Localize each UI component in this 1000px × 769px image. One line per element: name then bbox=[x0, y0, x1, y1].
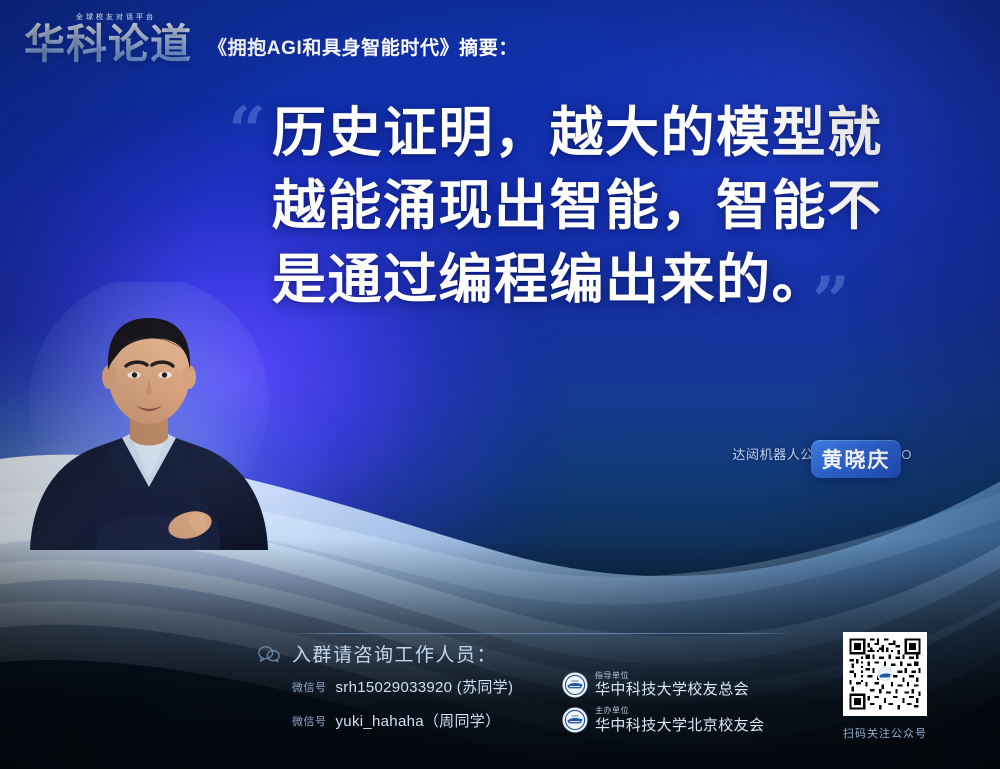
quote-close-mark: ” bbox=[812, 268, 850, 334]
organizer-kind: 指导单位 bbox=[595, 672, 749, 680]
organizer-text: 指导单位 华中科技大学校友总会 bbox=[595, 672, 749, 698]
speaker-name: 黄晓庆 bbox=[822, 444, 891, 474]
qr-caption: 扫码关注公众号 bbox=[843, 725, 927, 741]
contact-label: 微信号 bbox=[292, 713, 327, 729]
footer-heading-row: 入群请咨询工作人员： bbox=[258, 640, 818, 667]
organizer-name: 华中科技大学校友总会 bbox=[595, 682, 749, 698]
quote-line: 历史证明，越大的模型就 bbox=[272, 96, 952, 169]
quote-line: 越能涌现出智能，智能不 bbox=[272, 169, 952, 242]
quote-block: 历史证明，越大的模型就 越能涌现出智能，智能不 是通过编程编出来的。 bbox=[272, 96, 952, 316]
footer-heading: 入群请咨询工作人员： bbox=[292, 640, 497, 667]
speaker-portrait bbox=[22, 282, 276, 550]
poster-header: 全球校友对话平台 华科论道 《拥抱AGI和具身智能时代》摘要： bbox=[24, 14, 518, 66]
contact-label: 微信号 bbox=[292, 679, 327, 695]
organizer-name: 华中科技大学北京校友会 bbox=[595, 718, 764, 734]
organizer-kind: 主办单位 bbox=[595, 707, 764, 715]
poster-canvas: 全球校友对话平台 华科论道 《拥抱AGI和具身智能时代》摘要： “ 历史证明，越… bbox=[0, 0, 1000, 769]
university-seal-icon bbox=[562, 707, 588, 733]
page-title: 《拥抱AGI和具身智能时代》摘要： bbox=[208, 33, 518, 66]
quote-open-mark: “ bbox=[228, 98, 266, 164]
brand-logo: 全球校友对话平台 华科论道 bbox=[24, 14, 192, 66]
qr-code-image[interactable] bbox=[843, 632, 927, 716]
qr-block: 扫码关注公众号 bbox=[843, 632, 927, 741]
organizer-list: 指导单位 华中科技大学校友总会 主办单位 华中科技大学北京校友会 bbox=[562, 672, 764, 742]
footer-divider bbox=[286, 633, 798, 634]
logo-tagline: 全球校友对话平台 bbox=[76, 12, 156, 22]
university-seal-icon bbox=[562, 672, 588, 698]
contact-value[interactable]: srh15029033920 (苏同学) bbox=[336, 676, 514, 697]
organizer-item: 指导单位 华中科技大学校友总会 bbox=[562, 672, 764, 698]
wechat-icon bbox=[258, 646, 280, 662]
organizer-text: 主办单位 华中科技大学北京校友会 bbox=[595, 707, 764, 733]
contact-value[interactable]: yuki_hahaha（周同学） bbox=[336, 710, 501, 731]
organizer-item: 主办单位 华中科技大学北京校友会 bbox=[562, 707, 764, 733]
speaker-name-badge: 黄晓庆 bbox=[811, 440, 901, 478]
quote-line: 是通过编程编出来的。 bbox=[272, 243, 952, 316]
